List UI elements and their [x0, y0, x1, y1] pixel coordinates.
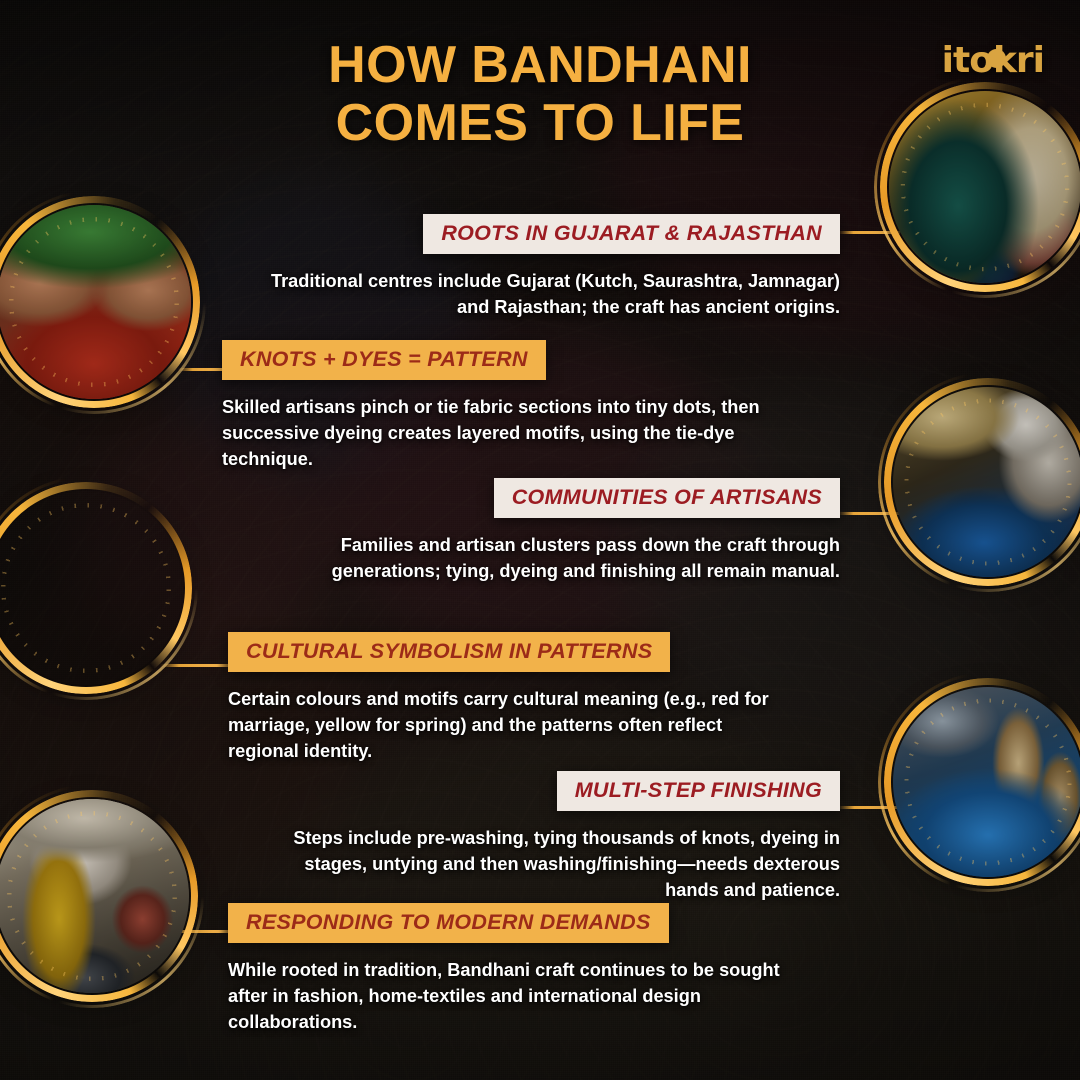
section-modern-heading[interactable]: RESPONDING TO MODERN DEMANDS	[228, 903, 669, 943]
photo-dye-vat-bundles	[884, 678, 1080, 886]
photo-dyer-blue-vat-image	[893, 387, 1080, 577]
page-title: HOW BANDHANI COMES TO LIFE	[0, 36, 1080, 152]
photo-hands-knotting-image	[0, 205, 191, 399]
section-knots: KNOTS + DYES = PATTERN Skilled artisans …	[222, 340, 782, 473]
photo-hands-knotting	[0, 196, 200, 408]
photo-dyer-yellow-cloth-image	[0, 799, 189, 993]
brand-logo[interactable]: itokri	[942, 40, 1044, 81]
photo-dyer-blue-vat	[884, 378, 1080, 586]
photo-dyer-yellow-cloth	[0, 790, 198, 1002]
section-communities-heading[interactable]: COMMUNITIES OF ARTISANS	[494, 478, 840, 518]
photo-woman-glasses	[0, 482, 192, 694]
section-symbolism-body: Certain colours and motifs carry cultura…	[228, 687, 790, 765]
section-roots: ROOTS IN GUJARAT & RAJASTHAN Traditional…	[250, 214, 840, 321]
infographic-poster: HOW BANDHANI COMES TO LIFE itokri	[0, 0, 1080, 1080]
title-line-2: COMES TO LIFE	[0, 94, 1080, 152]
section-modern: RESPONDING TO MODERN DEMANDS While roote…	[228, 903, 790, 1036]
photo-woman-glasses-image	[0, 491, 183, 685]
section-roots-heading[interactable]: ROOTS IN GUJARAT & RAJASTHAN	[423, 214, 840, 254]
logo-dot-icon	[987, 49, 1006, 68]
section-roots-body: Traditional centres include Gujarat (Kut…	[250, 269, 840, 321]
section-communities: COMMUNITIES OF ARTISANS Families and art…	[248, 478, 840, 585]
photo-dye-vat-bundles-image	[893, 687, 1080, 877]
section-communities-body: Families and artisan clusters pass down …	[248, 533, 840, 585]
title-line-1: HOW BANDHANI	[0, 36, 1080, 94]
section-modern-body: While rooted in tradition, Bandhani craf…	[228, 958, 790, 1036]
section-symbolism-heading[interactable]: CULTURAL SYMBOLISM IN PATTERNS	[228, 632, 670, 672]
section-knots-body: Skilled artisans pinch or tie fabric sec…	[222, 395, 782, 473]
section-finishing-heading[interactable]: MULTI-STEP FINISHING	[557, 771, 840, 811]
section-finishing-body: Steps include pre-washing, tying thousan…	[250, 826, 840, 904]
section-symbolism: CULTURAL SYMBOLISM IN PATTERNS Certain c…	[228, 632, 790, 765]
section-finishing: MULTI-STEP FINISHING Steps include pre-w…	[250, 771, 840, 904]
section-knots-heading[interactable]: KNOTS + DYES = PATTERN	[222, 340, 546, 380]
